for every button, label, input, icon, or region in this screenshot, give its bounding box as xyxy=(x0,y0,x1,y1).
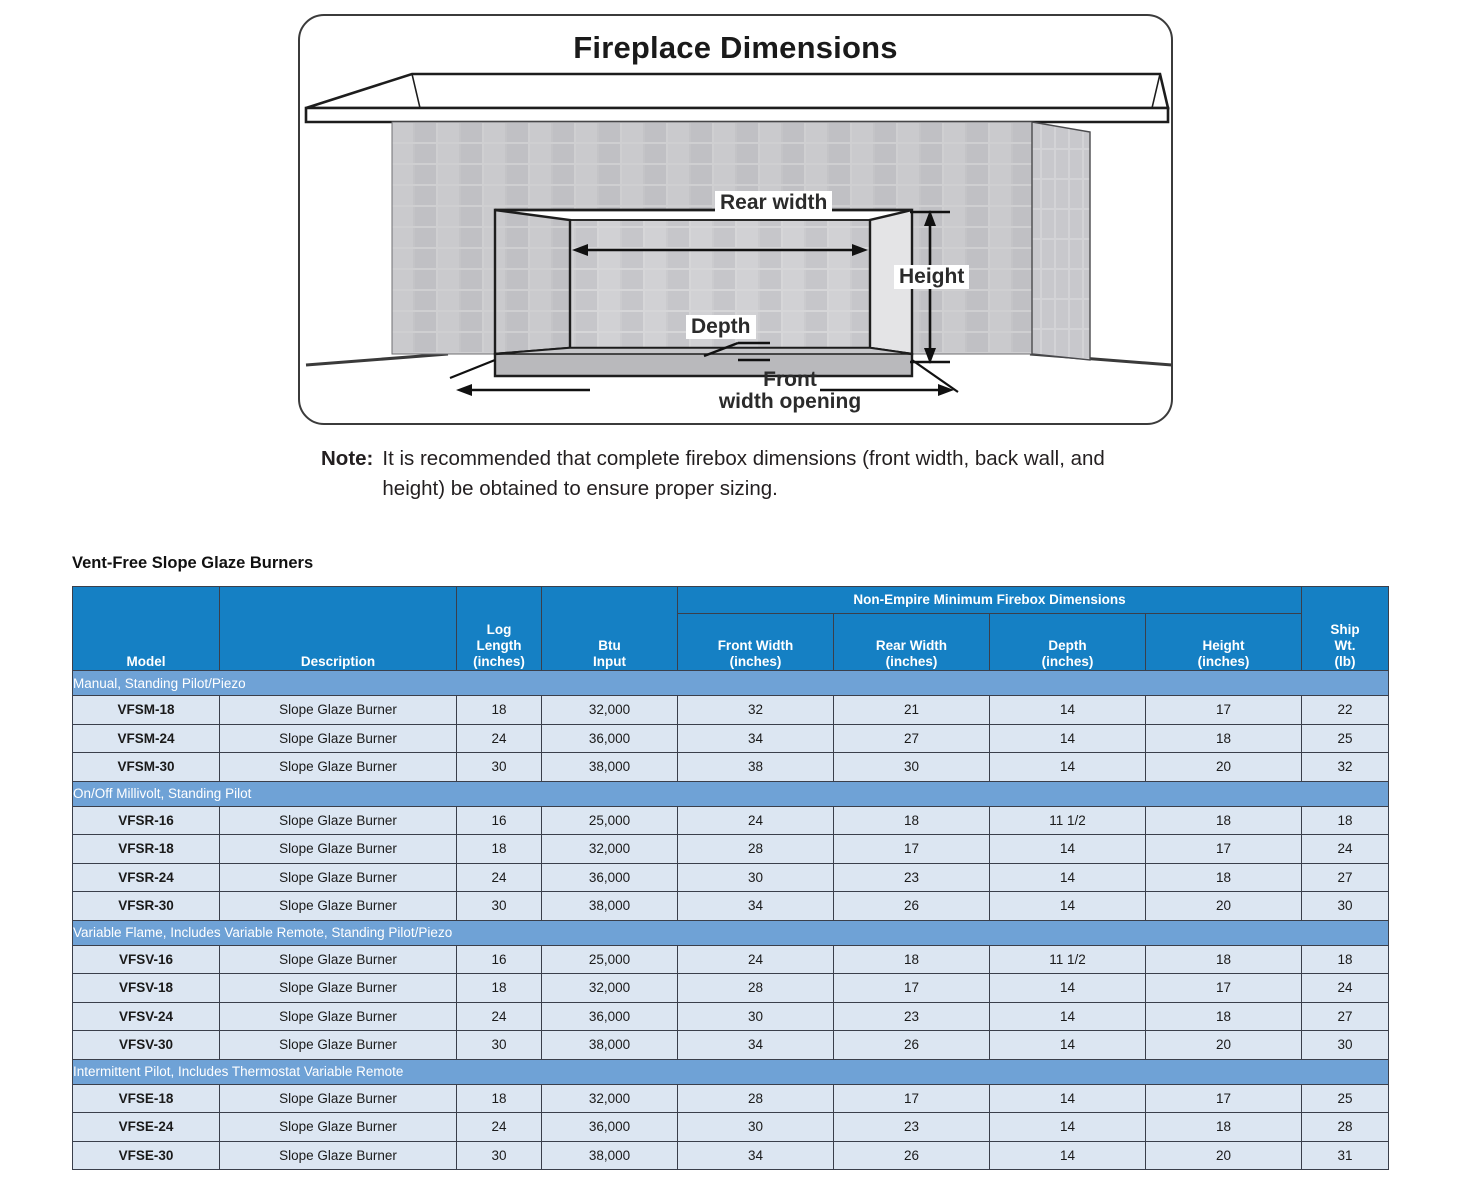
ship-wt-line-3: (lb) xyxy=(1335,654,1356,669)
cell-height: 17 xyxy=(1146,835,1302,864)
front-width-line-1: Front xyxy=(763,368,817,391)
cell-front-width: 24 xyxy=(678,945,834,974)
cell-log-length: 30 xyxy=(457,1141,542,1170)
cell-rear-width: 27 xyxy=(834,724,990,753)
table-row: VFSV-30Slope Glaze Burner3038,0003426142… xyxy=(73,1031,1389,1060)
cell-depth: 14 xyxy=(990,1002,1146,1031)
cell-description: Slope Glaze Burner xyxy=(220,806,457,835)
cell-log-length: 24 xyxy=(457,724,542,753)
cell-model: VFSV-16 xyxy=(73,945,220,974)
cell-ship-wt: 25 xyxy=(1302,1084,1389,1113)
cell-model: VFSV-18 xyxy=(73,974,220,1003)
table-section-row: Variable Flame, Includes Variable Remote… xyxy=(73,920,1389,945)
cell-height: 18 xyxy=(1146,724,1302,753)
table-row: VFSR-30Slope Glaze Burner3038,0003426142… xyxy=(73,892,1389,921)
fireplace-illustration xyxy=(300,60,1175,420)
cell-btu-input: 38,000 xyxy=(542,753,678,782)
cell-ship-wt: 30 xyxy=(1302,1031,1389,1060)
cell-ship-wt: 27 xyxy=(1302,863,1389,892)
cell-log-length: 18 xyxy=(457,974,542,1003)
cell-rear-width: 23 xyxy=(834,1113,990,1142)
table-row: VFSR-18Slope Glaze Burner1832,0002817141… xyxy=(73,835,1389,864)
table-row: VFSE-24Slope Glaze Burner2436,0003023141… xyxy=(73,1113,1389,1142)
cell-rear-width: 23 xyxy=(834,863,990,892)
cell-btu-input: 32,000 xyxy=(542,835,678,864)
cell-front-width: 28 xyxy=(678,1084,834,1113)
cell-model: VFSR-16 xyxy=(73,806,220,835)
cell-depth: 14 xyxy=(990,753,1146,782)
cell-description: Slope Glaze Burner xyxy=(220,974,457,1003)
cell-rear-width: 30 xyxy=(834,753,990,782)
cell-height: 18 xyxy=(1146,1002,1302,1031)
cell-model: VFSM-24 xyxy=(73,724,220,753)
rear-width-line-1: Rear Width xyxy=(876,638,947,653)
cell-model: VFSR-24 xyxy=(73,863,220,892)
cell-btu-input: 36,000 xyxy=(542,1002,678,1031)
table-section-row: Intermittent Pilot, Includes Thermostat … xyxy=(73,1059,1389,1084)
label-front-width: Front width opening xyxy=(680,368,900,414)
cell-depth: 14 xyxy=(990,696,1146,725)
cell-height: 18 xyxy=(1146,806,1302,835)
cell-ship-wt: 30 xyxy=(1302,892,1389,921)
front-width-line-2: (inches) xyxy=(730,654,782,669)
cell-log-length: 16 xyxy=(457,806,542,835)
cell-front-width: 38 xyxy=(678,753,834,782)
cell-description: Slope Glaze Burner xyxy=(220,1113,457,1142)
cell-btu-input: 38,000 xyxy=(542,892,678,921)
cell-log-length: 18 xyxy=(457,835,542,864)
table-caption: Vent-Free Slope Glaze Burners xyxy=(72,554,313,573)
note-label: Note: xyxy=(321,447,373,470)
table-header: Model Description Log Length (inches) Bt… xyxy=(73,587,1389,671)
cell-ship-wt: 32 xyxy=(1302,753,1389,782)
column-header-depth: Depth (inches) xyxy=(990,614,1146,671)
cell-depth: 14 xyxy=(990,1141,1146,1170)
cell-log-length: 30 xyxy=(457,753,542,782)
cell-model: VFSE-18 xyxy=(73,1084,220,1113)
cell-front-width: 34 xyxy=(678,1141,834,1170)
cell-depth: 14 xyxy=(990,974,1146,1003)
column-header-front-width: Front Width (inches) xyxy=(678,614,834,671)
cell-rear-width: 23 xyxy=(834,1002,990,1031)
note-block: Note:It is recommended that complete fir… xyxy=(321,444,1181,503)
cell-log-length: 24 xyxy=(457,1002,542,1031)
cell-depth: 14 xyxy=(990,1031,1146,1060)
cell-rear-width: 17 xyxy=(834,1084,990,1113)
btu-line-1: Btu xyxy=(598,638,621,653)
cell-depth: 14 xyxy=(990,863,1146,892)
cell-btu-input: 32,000 xyxy=(542,696,678,725)
cell-model: VFSM-30 xyxy=(73,753,220,782)
front-width-line-2: width opening xyxy=(719,390,861,413)
table-row: VFSE-18Slope Glaze Burner1832,0002817141… xyxy=(73,1084,1389,1113)
cell-depth: 14 xyxy=(990,892,1146,921)
table-section-title: Manual, Standing Pilot/Piezo xyxy=(73,671,1389,696)
cell-rear-width: 21 xyxy=(834,696,990,725)
log-length-line-1: Log xyxy=(487,622,512,637)
column-header-height: Height (inches) xyxy=(1146,614,1302,671)
height-line-1: Height xyxy=(1203,638,1245,653)
cell-description: Slope Glaze Burner xyxy=(220,753,457,782)
cell-model: VFSE-24 xyxy=(73,1113,220,1142)
cell-height: 20 xyxy=(1146,1141,1302,1170)
column-header-btu-input: Btu Input xyxy=(542,587,678,671)
cell-description: Slope Glaze Burner xyxy=(220,1031,457,1060)
cell-log-length: 18 xyxy=(457,1084,542,1113)
table-row: VFSV-24Slope Glaze Burner2436,0003023141… xyxy=(73,1002,1389,1031)
cell-ship-wt: 28 xyxy=(1302,1113,1389,1142)
cell-height: 20 xyxy=(1146,892,1302,921)
column-header-model: Model xyxy=(73,587,220,671)
cell-description: Slope Glaze Burner xyxy=(220,696,457,725)
cell-description: Slope Glaze Burner xyxy=(220,724,457,753)
cell-depth: 14 xyxy=(990,1113,1146,1142)
table-row: VFSM-18Slope Glaze Burner1832,0003221141… xyxy=(73,696,1389,725)
cell-btu-input: 32,000 xyxy=(542,1084,678,1113)
cell-description: Slope Glaze Burner xyxy=(220,1141,457,1170)
table-section-title: Variable Flame, Includes Variable Remote… xyxy=(73,920,1389,945)
cell-btu-input: 38,000 xyxy=(542,1141,678,1170)
label-rear-width: Rear width xyxy=(715,191,832,215)
cell-description: Slope Glaze Burner xyxy=(220,1002,457,1031)
cell-description: Slope Glaze Burner xyxy=(220,863,457,892)
log-length-line-2: Length xyxy=(477,638,522,653)
table-section-row: On/Off Millivolt, Standing Pilot xyxy=(73,781,1389,806)
cell-ship-wt: 25 xyxy=(1302,724,1389,753)
cell-ship-wt: 24 xyxy=(1302,835,1389,864)
cell-front-width: 32 xyxy=(678,696,834,725)
cell-rear-width: 26 xyxy=(834,1141,990,1170)
cell-description: Slope Glaze Burner xyxy=(220,945,457,974)
cell-front-width: 30 xyxy=(678,1002,834,1031)
table-row: VFSE-30Slope Glaze Burner3038,0003426142… xyxy=(73,1141,1389,1170)
cell-rear-width: 17 xyxy=(834,974,990,1003)
cell-ship-wt: 31 xyxy=(1302,1141,1389,1170)
cell-ship-wt: 18 xyxy=(1302,806,1389,835)
cell-rear-width: 26 xyxy=(834,1031,990,1060)
vent-free-slope-glaze-burners-table: Model Description Log Length (inches) Bt… xyxy=(72,586,1389,1170)
cell-front-width: 28 xyxy=(678,974,834,1003)
table-body: Manual, Standing Pilot/PiezoVFSM-18Slope… xyxy=(73,671,1389,1170)
label-height: Height xyxy=(894,265,969,289)
cell-description: Slope Glaze Burner xyxy=(220,892,457,921)
column-header-description: Description xyxy=(220,587,457,671)
cell-btu-input: 32,000 xyxy=(542,974,678,1003)
cell-btu-input: 38,000 xyxy=(542,1031,678,1060)
cell-height: 18 xyxy=(1146,863,1302,892)
table-row: VFSR-24Slope Glaze Burner2436,0003023141… xyxy=(73,863,1389,892)
table-header-row-1: Model Description Log Length (inches) Bt… xyxy=(73,587,1389,614)
cell-ship-wt: 18 xyxy=(1302,945,1389,974)
cell-model: VFSV-24 xyxy=(73,1002,220,1031)
table-row: VFSM-24Slope Glaze Burner2436,0003427141… xyxy=(73,724,1389,753)
cell-description: Slope Glaze Burner xyxy=(220,1084,457,1113)
table-section-row: Manual, Standing Pilot/Piezo xyxy=(73,671,1389,696)
cell-log-length: 24 xyxy=(457,863,542,892)
column-header-ship-wt: Ship Wt. (lb) xyxy=(1302,587,1389,671)
note-text: It is recommended that complete firebox … xyxy=(382,444,1157,503)
log-length-line-3: (inches) xyxy=(473,654,525,669)
cell-height: 20 xyxy=(1146,1031,1302,1060)
cell-depth: 14 xyxy=(990,1084,1146,1113)
fireplace-dimensions-panel: Fireplace Dimensions xyxy=(298,14,1173,425)
cell-depth: 11 1/2 xyxy=(990,945,1146,974)
label-depth: Depth xyxy=(686,315,756,339)
cell-depth: 14 xyxy=(990,724,1146,753)
cell-model: VFSM-18 xyxy=(73,696,220,725)
cell-front-width: 34 xyxy=(678,1031,834,1060)
cell-description: Slope Glaze Burner xyxy=(220,835,457,864)
cell-model: VFSV-30 xyxy=(73,1031,220,1060)
cell-btu-input: 36,000 xyxy=(542,1113,678,1142)
cell-rear-width: 18 xyxy=(834,806,990,835)
column-group-header-firebox-dimensions: Non-Empire Minimum Firebox Dimensions xyxy=(678,587,1302,614)
cell-depth: 14 xyxy=(990,835,1146,864)
cell-btu-input: 36,000 xyxy=(542,863,678,892)
cell-rear-width: 26 xyxy=(834,892,990,921)
cell-front-width: 28 xyxy=(678,835,834,864)
height-line-2: (inches) xyxy=(1198,654,1250,669)
cell-height: 20 xyxy=(1146,753,1302,782)
cell-height: 17 xyxy=(1146,1084,1302,1113)
table-row: VFSM-30Slope Glaze Burner3038,0003830142… xyxy=(73,753,1389,782)
ship-wt-line-2: Wt. xyxy=(1335,638,1356,653)
cell-log-length: 18 xyxy=(457,696,542,725)
cell-log-length: 16 xyxy=(457,945,542,974)
cell-front-width: 30 xyxy=(678,1113,834,1142)
table-section-title: Intermittent Pilot, Includes Thermostat … xyxy=(73,1059,1389,1084)
cell-front-width: 34 xyxy=(678,724,834,753)
depth-line-1: Depth xyxy=(1048,638,1086,653)
cell-rear-width: 18 xyxy=(834,945,990,974)
cell-btu-input: 25,000 xyxy=(542,806,678,835)
cell-front-width: 24 xyxy=(678,806,834,835)
table-section-title: On/Off Millivolt, Standing Pilot xyxy=(73,781,1389,806)
cell-btu-input: 36,000 xyxy=(542,724,678,753)
cell-log-length: 30 xyxy=(457,1031,542,1060)
cell-height: 18 xyxy=(1146,945,1302,974)
cell-depth: 11 1/2 xyxy=(990,806,1146,835)
cell-model: VFSR-18 xyxy=(73,835,220,864)
column-header-rear-width: Rear Width (inches) xyxy=(834,614,990,671)
cell-rear-width: 17 xyxy=(834,835,990,864)
cell-height: 17 xyxy=(1146,974,1302,1003)
btu-line-2: Input xyxy=(593,654,626,669)
table-row: VFSR-16Slope Glaze Burner1625,000241811 … xyxy=(73,806,1389,835)
cell-btu-input: 25,000 xyxy=(542,945,678,974)
cell-height: 17 xyxy=(1146,696,1302,725)
cell-ship-wt: 24 xyxy=(1302,974,1389,1003)
cell-height: 18 xyxy=(1146,1113,1302,1142)
table-row: VFSV-18Slope Glaze Burner1832,0002817141… xyxy=(73,974,1389,1003)
cell-ship-wt: 22 xyxy=(1302,696,1389,725)
cell-model: VFSE-30 xyxy=(73,1141,220,1170)
cell-front-width: 30 xyxy=(678,863,834,892)
column-header-log-length: Log Length (inches) xyxy=(457,587,542,671)
table-row: VFSV-16Slope Glaze Burner1625,000241811 … xyxy=(73,945,1389,974)
cell-front-width: 34 xyxy=(678,892,834,921)
front-width-line-1: Front Width xyxy=(718,638,794,653)
rear-width-line-2: (inches) xyxy=(886,654,938,669)
cell-log-length: 24 xyxy=(457,1113,542,1142)
cell-log-length: 30 xyxy=(457,892,542,921)
cell-model: VFSR-30 xyxy=(73,892,220,921)
ship-wt-line-1: Ship xyxy=(1330,622,1359,637)
cell-ship-wt: 27 xyxy=(1302,1002,1389,1031)
depth-line-2: (inches) xyxy=(1042,654,1094,669)
